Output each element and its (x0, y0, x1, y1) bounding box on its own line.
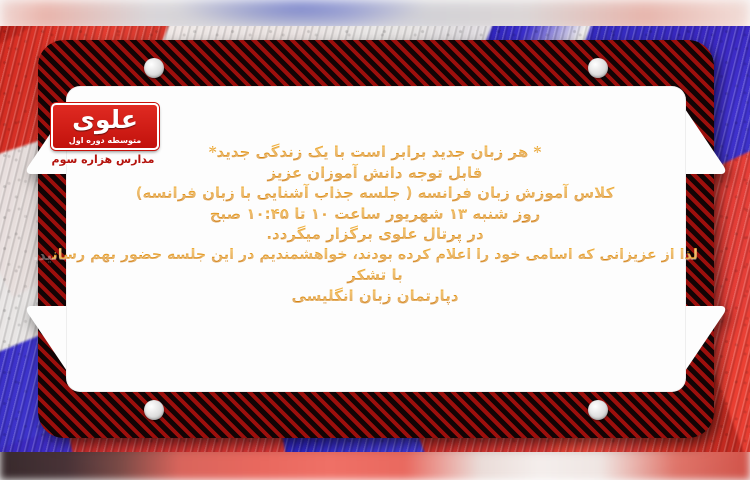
screw-icon-bottom-right (588, 400, 608, 420)
screw-icon-bottom-left (144, 400, 164, 420)
school-logo: علوی متوسطه دوره اول مدارس هزاره سوم (47, 103, 159, 165)
announcement-line-8: دپارتمان زبان انگلیسی (52, 286, 698, 307)
logo-red-box: علوی متوسطه دوره اول (51, 103, 159, 150)
announcement-line-6: لذا از عزیزانی که اسامی خود را اعلام کرد… (52, 245, 698, 266)
logo-caption: مدارس هزاره سوم (47, 153, 159, 166)
announcement-line-7: با تشکر (52, 265, 698, 286)
logo-tier: متوسطه دوره اول (53, 136, 157, 146)
screenshot-canvas: علوی متوسطه دوره اول مدارس هزاره سوم * ه… (0, 0, 750, 480)
logo-name: علوی (53, 106, 157, 133)
announcement-line-5: در پرتال علوی برگزار میگردد. (52, 224, 698, 245)
announcement-text-block: * هر زبان جدید برابر است با یک زندگی جدی… (52, 142, 698, 306)
announcement-line-3: کلاس آموزش زبان فرانسه ( جلسه جذاب آشنای… (52, 183, 698, 204)
screw-icon-top-right (588, 58, 608, 78)
screw-icon-top-left (144, 58, 164, 78)
announcement-line-4: روز شنبه ۱۳ شهریور ساعت ۱۰ تا ۱۰:۴۵ صبح (52, 204, 698, 225)
